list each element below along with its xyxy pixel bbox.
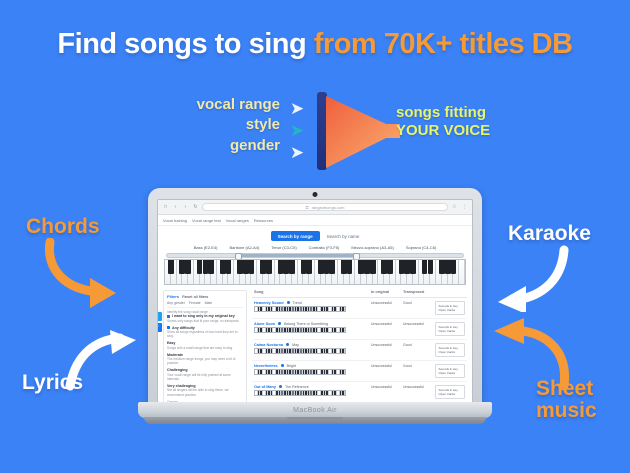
song-title-link[interactable]: Nevertheless (254, 364, 278, 368)
gender-option-male[interactable]: Male (205, 301, 213, 305)
open-tracks-button[interactable]: Sounds in keyOpen tracks (435, 364, 465, 378)
range-key (342, 391, 345, 395)
piano-black-key[interactable] (306, 260, 312, 274)
table-row[interactable]: Out of ManyThe ReferenceUnsuccessfulUnsu… (252, 382, 467, 403)
piano-black-key[interactable] (185, 260, 191, 274)
filter-option-label: Moderate (167, 353, 183, 357)
song-range-keyboard (254, 369, 346, 375)
action-line2: Open tracks (439, 392, 462, 396)
song-header: Alone SoonBelong There or Something (254, 322, 371, 326)
piano-keyboard[interactable] (164, 259, 466, 285)
song-range-keyboard (254, 390, 346, 396)
song-header: NeverthelessBright (254, 364, 371, 368)
table-row[interactable]: Alone SoonBelong There or SomethingUnsuc… (252, 319, 467, 340)
gender-option-female[interactable]: Female (189, 301, 201, 305)
voice-type-mezzo-soprano[interactable]: Mezzo-soprano (A3-A5) (351, 245, 393, 250)
filter-option[interactable]: Moderate The medium range songs, you may… (167, 353, 243, 366)
laptop-notch (287, 417, 343, 421)
filter-option-desc: Show all songs regardless of how hard th… (167, 330, 243, 339)
in-original-value: Unsuccessful (371, 301, 403, 305)
piano-black-key[interactable] (439, 260, 445, 274)
voice-type-soprano[interactable]: Soprano (C4-C6) (406, 245, 436, 250)
action-cell: Sounds in keyOpen tracks (435, 343, 465, 357)
callout-chords: Chords (26, 215, 100, 239)
arrow-right-icon: ➤ (286, 98, 308, 118)
filter-option-desc: Songs with a small range that are easy t… (167, 346, 243, 350)
filter-option-label: Challenging (167, 368, 188, 372)
song-cell: Calma NocturnaMay (254, 343, 371, 355)
laptop-lid: □ ‹ › ↻ ⚿ rangeofsongs.com ☆ ⋮ Vocal tra… (148, 188, 482, 410)
transposed-value: Unsuccessful (403, 385, 435, 389)
open-tracks-button[interactable]: Sounds in keyOpen tracks (435, 343, 465, 357)
funnel-input-style: style (176, 116, 280, 134)
song-badge-icon (286, 343, 289, 346)
table-row[interactable]: Heavenly SoundTrendUnsuccessfulGoodSound… (252, 298, 467, 319)
piano-black-key[interactable] (249, 260, 255, 274)
lyrics-arrow-icon (62, 330, 142, 392)
piano-black-key[interactable] (220, 260, 226, 274)
funnel-diagram: vocal range style gender ➤ ➤ ➤ songs fit… (176, 96, 476, 168)
checkbox-icon[interactable] (167, 315, 170, 318)
in-original-value: Unsuccessful (371, 364, 403, 368)
piano-black-key[interactable] (208, 260, 214, 274)
filter-option[interactable]: Easy Songs with a small range that are e… (167, 341, 243, 350)
voice-type-bass[interactable]: Bass (E2-E4) (194, 245, 218, 250)
column-header-song: Song (254, 290, 371, 294)
menu-icon[interactable]: ⋮ (461, 204, 468, 210)
piano-black-key[interactable] (318, 260, 324, 274)
headline-orange: from 70K+ titles DB (314, 28, 573, 60)
headline-white: Find songs to sing (57, 28, 306, 60)
piano-range-selector (158, 253, 472, 285)
song-title-link[interactable]: Out of Many (254, 385, 276, 389)
song-artist: Bright (287, 364, 296, 368)
funnel-output-label: songs fitting YOUR VOICE (396, 104, 526, 140)
filter-option-desc: Shows only songs that fit your range, no… (167, 319, 243, 323)
browser-toolbar: □ ‹ › ↻ ⚿ rangeofsongs.com ☆ ⋮ (162, 203, 468, 211)
song-range-keyboard (254, 348, 346, 354)
piano-black-key[interactable] (226, 260, 232, 274)
piano-black-key[interactable] (451, 260, 457, 274)
song-badge-icon (278, 322, 281, 325)
column-header-in-original: In original (371, 290, 403, 294)
song-range-keyboard (254, 306, 346, 312)
open-tracks-button[interactable]: Sounds in keyOpen tracks (435, 322, 465, 336)
filter-option[interactable]: Very challenging Not all singers will be… (167, 384, 243, 397)
search-mode-tabs: Search by range Search by name (158, 226, 472, 245)
song-title-link[interactable]: Calma Nocturna (254, 343, 283, 347)
filter-option-desc: Not all singers will be able to sing the… (167, 388, 243, 397)
bookmarks-bar: Vocal training Vocal range test Vocal ra… (158, 215, 472, 226)
facebook-icon[interactable]: f (157, 323, 162, 332)
webcam-icon (313, 192, 318, 197)
song-title-link[interactable]: Heavenly Sound (254, 301, 284, 305)
filter-option-desc: The medium range songs, you may need a b… (167, 357, 243, 366)
table-row[interactable]: Calma NocturnaMayUnsuccessfulGoodSounds … (252, 340, 467, 361)
piano-black-key[interactable] (329, 260, 335, 274)
action-cell: Sounds in keyOpen tracks (435, 364, 465, 378)
song-range-keyboard (254, 327, 346, 333)
voice-type-baritone[interactable]: Baritone (A2-A4) (230, 245, 260, 250)
funnel-input-gender: gender (176, 137, 280, 155)
callout-sheet-line2: music (536, 400, 597, 422)
song-artist: Belong There or Something (284, 322, 328, 326)
funnel-cone-icon (326, 94, 404, 170)
transposed-value: Good (403, 364, 435, 368)
column-header-transposed: Transposed (403, 290, 435, 294)
lock-icon: ⚿ (306, 205, 309, 210)
song-header: Calma NocturnaMay (254, 343, 371, 347)
piano-black-key[interactable] (347, 260, 353, 274)
song-badge-icon (287, 301, 290, 304)
song-cell: Heavenly SoundTrend (254, 301, 371, 313)
filter-option[interactable]: Challenging Your vocal range will be ful… (167, 368, 243, 381)
song-cell: NeverthelessBright (254, 364, 371, 376)
piano-black-key[interactable] (266, 260, 272, 274)
transposed-value: Unsuccessful (403, 322, 435, 326)
arrow-right-icon: ➤ (286, 120, 308, 140)
results-table: Song In original Transposed Heavenly Sou… (252, 290, 467, 403)
reload-icon[interactable]: ↻ (192, 204, 199, 210)
search-by-range-button[interactable]: Search by range (271, 231, 320, 241)
chords-arrow-icon (40, 238, 130, 308)
checkbox-icon[interactable] (167, 326, 170, 329)
action-line2: Open tracks (439, 371, 462, 375)
song-title-link[interactable]: Alone Soon (254, 322, 275, 326)
reset-filters-button[interactable]: Reset all filters (182, 294, 208, 299)
laptop-mockup: □ ‹ › ↻ ⚿ rangeofsongs.com ☆ ⋮ Vocal tra… (138, 188, 492, 436)
bookmark-item[interactable]: Vocal ranges (226, 218, 249, 223)
star-icon[interactable]: ☆ (451, 204, 458, 210)
in-original-value: Unsuccessful (371, 343, 403, 347)
song-artist: Trend (293, 301, 302, 305)
forward-icon[interactable]: › (182, 204, 189, 210)
piano-black-key[interactable] (237, 260, 243, 274)
filter-option-label: I want to sing only in my original key (172, 314, 235, 318)
filters-panel: Filters Reset all filters Any gender Fem… (163, 290, 247, 403)
action-line2: Open tracks (439, 329, 462, 333)
action-line2: Open tracks (439, 350, 462, 354)
range-key (342, 349, 345, 353)
action-cell: Sounds in keyOpen tracks (435, 322, 465, 336)
action-cell: Sounds in keyOpen tracks (435, 385, 465, 399)
piano-black-key[interactable] (387, 260, 393, 274)
voice-type-tenor[interactable]: Tenor (C3-C5) (271, 245, 296, 250)
funnel-arrow-group: ➤ ➤ ➤ (286, 98, 312, 164)
url-text: rangeofsongs.com (312, 205, 345, 210)
piano-black-key[interactable] (289, 260, 295, 274)
back-icon[interactable]: ‹ (172, 204, 179, 210)
gender-option-any[interactable]: Any gender (167, 301, 185, 305)
funnel-input-vocal-range: vocal range (176, 96, 280, 114)
bookmark-item[interactable]: Vocal training (163, 218, 187, 223)
filter-option-label: Easy (167, 341, 175, 345)
address-bar[interactable]: ⚿ rangeofsongs.com (202, 203, 448, 211)
open-tracks-button[interactable]: Sounds in keyOpen tracks (435, 385, 465, 399)
karaoke-arrow-icon (492, 244, 574, 312)
song-artist: May (292, 343, 299, 347)
search-by-name-link[interactable]: Search by name (327, 234, 360, 239)
piano-black-key[interactable] (370, 260, 376, 274)
filter-option-desc: Your vocal range will be fully pushed at… (167, 373, 243, 382)
laptop-model-label: MacBook Air (293, 407, 337, 414)
piano-black-key[interactable] (341, 260, 347, 274)
column-header-actions (435, 290, 465, 294)
promo-graphic: Find songs to sing from 70K+ titles DB v… (0, 0, 630, 473)
piano-black-key[interactable] (364, 260, 370, 274)
twitter-icon[interactable]: t (157, 312, 162, 321)
page-title: Find songs to sing from 70K+ titles DB (0, 28, 630, 61)
filter-option-label: Any difficulty (172, 326, 195, 330)
in-original-value: Unsuccessful (371, 385, 403, 389)
piano-black-key[interactable] (422, 260, 428, 274)
table-header: Song In original Transposed (252, 290, 467, 298)
bookmark-item[interactable]: Vocal range test (192, 218, 221, 223)
song-badge-icon (279, 385, 282, 388)
song-header: Out of ManyThe Reference (254, 385, 371, 389)
filters-title: Filters (167, 294, 179, 299)
in-original-value: Unsuccessful (371, 322, 403, 326)
voice-type-contralto[interactable]: Contralto (F3-F5) (309, 245, 340, 250)
open-tracks-button[interactable]: Sounds in keyOpen tracks (435, 301, 465, 315)
funnel-output-line1: songs fitting (396, 104, 526, 122)
table-body: Heavenly SoundTrendUnsuccessfulGoodSound… (252, 298, 467, 403)
funnel-output-line2: YOUR VOICE (396, 122, 526, 140)
callout-karaoke: Karaoke (508, 222, 591, 246)
tabs-icon[interactable]: □ (162, 204, 169, 210)
app-content: t f Search by range Search by name Bass … (158, 226, 472, 403)
piano-white-key[interactable] (459, 260, 465, 284)
table-row[interactable]: NeverthelessBrightUnsuccessfulGoodSounds… (252, 361, 467, 382)
laptop-base: MacBook Air (138, 402, 492, 418)
transposed-value: Good (403, 301, 435, 305)
funnel-input-list: vocal range style gender (176, 96, 280, 155)
filter-option-label: Very challenging (167, 384, 196, 388)
range-slider-fill (238, 254, 356, 257)
laptop-screen: □ ‹ › ↻ ⚿ rangeofsongs.com ☆ ⋮ Vocal tra… (157, 199, 473, 403)
piano-black-key[interactable] (197, 260, 203, 274)
bookmark-item[interactable]: Resources (254, 218, 273, 223)
transposed-value: Good (403, 343, 435, 347)
filters-header: Filters Reset all filters (167, 294, 243, 299)
range-slider[interactable] (166, 253, 464, 258)
song-header: Heavenly SoundTrend (254, 301, 371, 305)
voice-type-list: Bass (E2-E4) Baritone (A2-A4) Tenor (C3-… (158, 245, 472, 253)
arrow-right-icon: ➤ (286, 142, 308, 162)
song-cell: Out of ManyThe Reference (254, 385, 371, 397)
filter-option[interactable]: I want to sing only in my original key S… (167, 314, 243, 323)
browser-chrome: □ ‹ › ↻ ⚿ rangeofsongs.com ☆ ⋮ (158, 200, 472, 215)
song-artist: The Reference (285, 385, 309, 389)
filter-option[interactable]: Any difficulty Show all songs regardless… (167, 326, 243, 339)
range-key (342, 328, 345, 332)
song-badge-icon (281, 364, 284, 367)
sheet-music-arrow-icon (488, 318, 578, 392)
song-cell: Alone SoonBelong There or Something (254, 322, 371, 334)
action-cell: Sounds in keyOpen tracks (435, 301, 465, 315)
social-share-rail: t f (157, 312, 162, 332)
gender-filter-row: Any gender Female Male (167, 301, 243, 308)
app-main: Filters Reset all filters Any gender Fem… (158, 285, 472, 403)
piano-black-key[interactable] (428, 260, 434, 274)
piano-black-key[interactable] (445, 260, 451, 274)
piano-black-key[interactable] (168, 260, 174, 274)
action-line2: Open tracks (439, 308, 462, 312)
piano-black-key[interactable] (410, 260, 416, 274)
range-key (342, 370, 345, 374)
piano-black-key[interactable] (243, 260, 249, 274)
range-key (342, 307, 345, 311)
